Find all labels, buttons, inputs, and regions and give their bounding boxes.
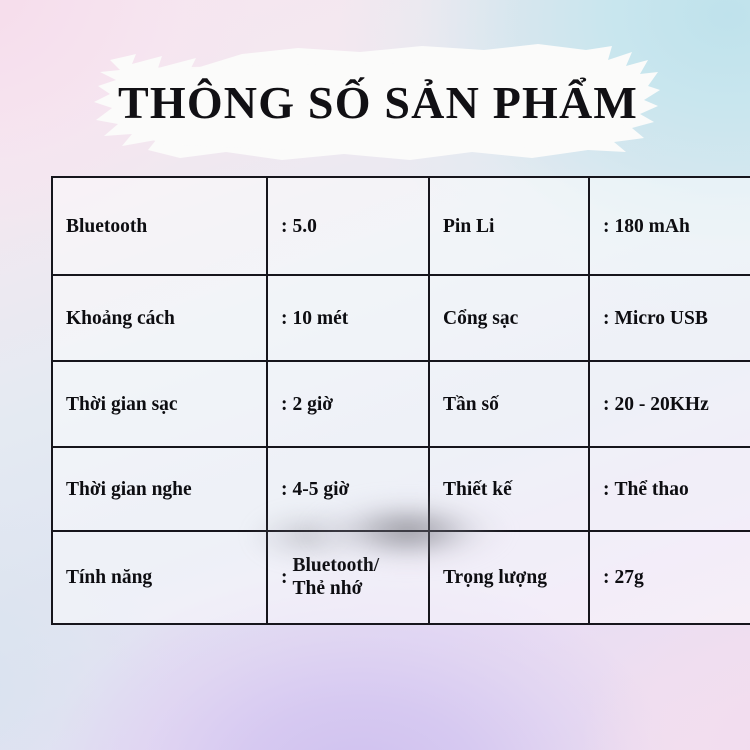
table-row: Thời gian sạc :2 giờ Tần số :20 - 20KHz (52, 361, 750, 447)
product-spec-poster: THÔNG SỐ SẢN PHẨM Bluetooth :5.0 Pin Li … (0, 0, 750, 750)
spec-label-thoi-gian-sac: Thời gian sạc (52, 361, 267, 447)
spec-value-cong-sac: :Micro USB (589, 275, 750, 361)
spec-label-cong-sac: Cổng sạc (429, 275, 589, 361)
table-row: Thời gian nghe :4-5 giờ Thiết kế :Thể th… (52, 447, 750, 531)
spec-value-khoang-cach: :10 mét (267, 275, 429, 361)
spec-label-khoang-cach: Khoảng cách (52, 275, 267, 361)
product-spec-table: Bluetooth :5.0 Pin Li :180 mAh Khoảng cá… (51, 176, 750, 625)
spec-label-thoi-gian-nghe: Thời gian nghe (52, 447, 267, 531)
spec-value-thoi-gian-sac: :2 giờ (267, 361, 429, 447)
page-title: THÔNG SỐ SẢN PHẨM (92, 38, 664, 166)
spec-value-tinh-nang: :Bluetooth/ Thẻ nhớ (267, 531, 429, 624)
spec-label-pin-li: Pin Li (429, 177, 589, 275)
table-row: Tính năng :Bluetooth/ Thẻ nhớ Trọng lượn… (52, 531, 750, 624)
spec-value-bluetooth: :5.0 (267, 177, 429, 275)
spec-label-tan-so: Tần số (429, 361, 589, 447)
spec-value-tan-so: :20 - 20KHz (589, 361, 750, 447)
spec-value-thiet-ke: :Thể thao (589, 447, 750, 531)
spec-label-trong-luong: Trọng lượng (429, 531, 589, 624)
table-row: Bluetooth :5.0 Pin Li :180 mAh (52, 177, 750, 275)
spec-value-trong-luong: :27g (589, 531, 750, 624)
spec-label-bluetooth: Bluetooth (52, 177, 267, 275)
spec-value-pin-li: :180 mAh (589, 177, 750, 275)
spec-value-thoi-gian-nghe: :4-5 giờ (267, 447, 429, 531)
table-row: Khoảng cách :10 mét Cổng sạc :Micro USB (52, 275, 750, 361)
spec-label-thiet-ke: Thiết kế (429, 447, 589, 531)
spec-label-tinh-nang: Tính năng (52, 531, 267, 624)
